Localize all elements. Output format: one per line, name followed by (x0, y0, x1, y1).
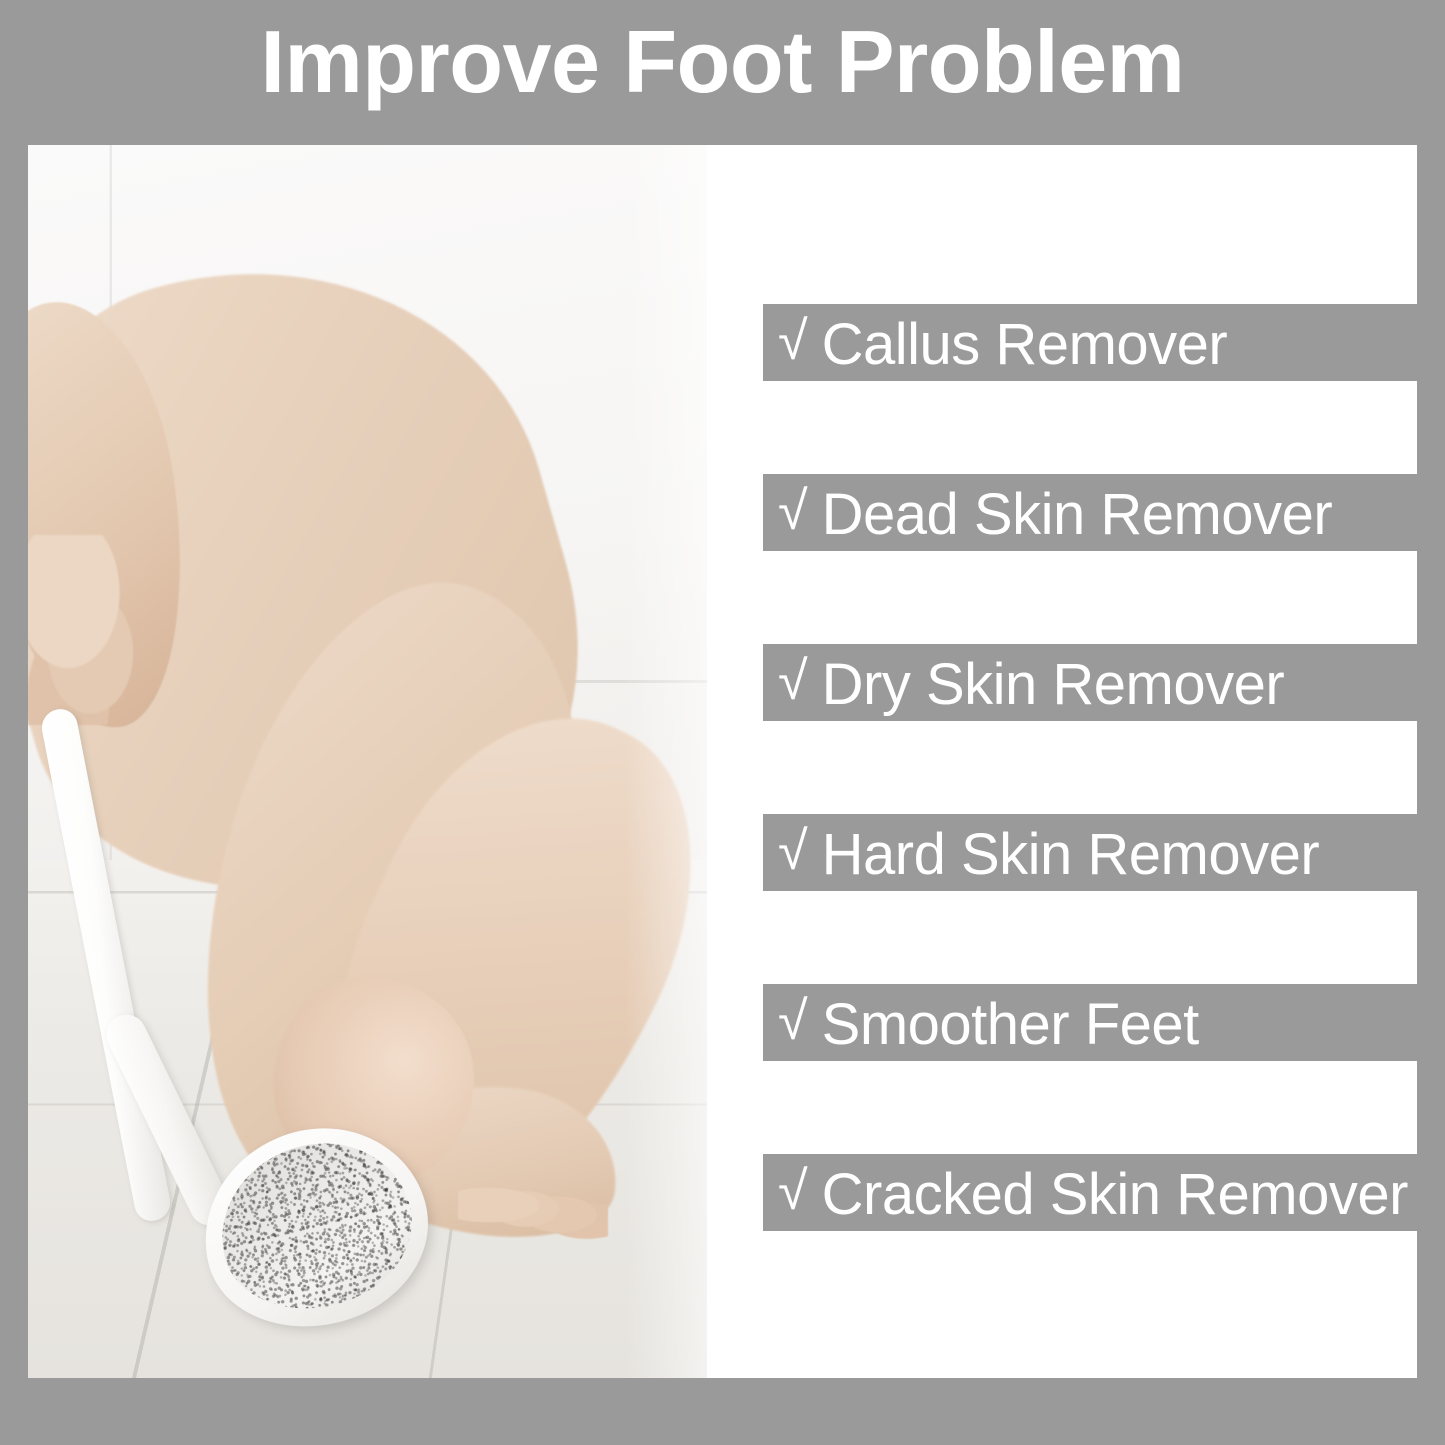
feature-bar-smoother-feet: √ Smoother Feet (763, 984, 1417, 1061)
check-icon: √ (778, 824, 808, 878)
check-icon: √ (778, 1164, 808, 1218)
check-icon: √ (778, 314, 808, 368)
check-icon: √ (778, 654, 808, 708)
feature-label: Hard Skin Remover (822, 826, 1320, 884)
feature-bar-cracked-skin-remover: √ Cracked Skin Remover (763, 1154, 1417, 1231)
check-icon: √ (778, 994, 808, 1048)
feature-label: Dry Skin Remover (822, 656, 1285, 714)
feature-label: Dead Skin Remover (822, 486, 1333, 544)
feature-label: Smoother Feet (822, 996, 1199, 1054)
content-card: √ Callus Remover √ Dead Skin Remover √ D… (28, 145, 1417, 1378)
feature-label: Cracked Skin Remover (822, 1166, 1408, 1224)
check-icon: √ (778, 484, 808, 538)
feature-list: √ Callus Remover √ Dead Skin Remover √ D… (735, 145, 1417, 1378)
feature-bar-hard-skin-remover: √ Hard Skin Remover (763, 814, 1417, 891)
page-title: Improve Foot Problem (0, 18, 1445, 106)
feature-bar-dry-skin-remover: √ Dry Skin Remover (763, 644, 1417, 721)
product-usage-photo (28, 145, 707, 1378)
feature-bar-callus-remover: √ Callus Remover (763, 304, 1417, 381)
feature-label: Callus Remover (822, 316, 1228, 374)
product-feature-poster: Improve Foot Problem √ Callus Remover (0, 0, 1445, 1445)
knuckles (28, 535, 158, 725)
toes (458, 1165, 608, 1245)
feature-bar-dead-skin-remover: √ Dead Skin Remover (763, 474, 1417, 551)
